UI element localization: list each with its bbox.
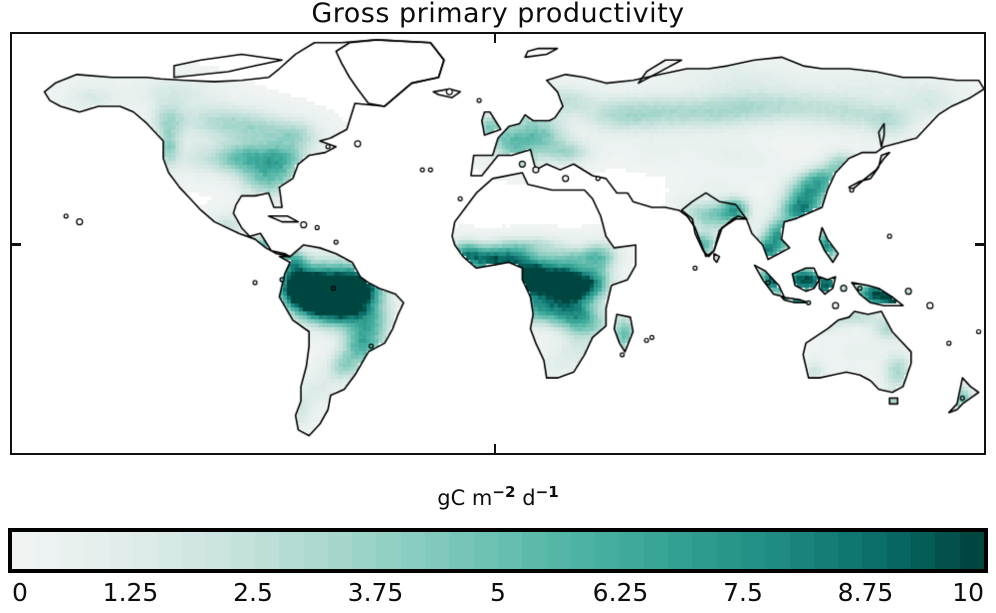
colorbar-swatch-1 [36,532,60,569]
colorbar-tick-2-5: 2.5 [233,578,273,607]
colorbar-swatch-0 [12,532,36,569]
colorbar-swatch-22 [547,532,571,569]
colorbar-swatch-31 [765,532,789,569]
colorbar-swatch-3 [85,532,109,569]
colorbar-swatch-6 [158,532,182,569]
colorbar-swatch-2 [61,532,85,569]
colorbar-tick-6-25: 6.25 [593,578,649,607]
colorbar-swatch-33 [814,532,838,569]
colorbar-swatch-34 [838,532,862,569]
colorbar-tick-labels: 01.252.53.7556.257.58.7510 [0,578,996,613]
colorbar-swatch-15 [376,532,400,569]
colorbar-swatch-20 [498,532,522,569]
colorbar-tick-5: 5 [490,578,506,607]
colorbar [8,528,988,573]
page-title: Gross primary productivity [0,0,996,29]
colorbar-tick-1-25: 1.25 [103,578,159,607]
axis-tick-right-equator [975,243,986,246]
colorbar-swatch-39 [960,532,984,569]
colorbar-swatch-29 [717,532,741,569]
colorbar-swatch-35 [862,532,886,569]
colorbar-tick-3-75: 3.75 [348,578,404,607]
colorbar-swatch-16 [401,532,425,569]
gpp-heatmap-canvas [12,34,984,453]
units-mid: d [516,486,536,510]
colorbar-swatch-10 [255,532,279,569]
colorbar-swatch-17 [425,532,449,569]
colorbar-swatch-26 [644,532,668,569]
colorbar-tick-7-5: 7.5 [723,578,763,607]
units-exponent-day: −1 [536,483,559,501]
colorbar-tick-0: 0 [12,578,28,607]
colorbar-swatch-18 [449,532,473,569]
axis-tick-left-equator [10,243,21,246]
colorbar-swatch-30 [741,532,765,569]
colorbar-swatch-19 [474,532,498,569]
colorbar-swatch-8 [206,532,230,569]
colorbar-swatch-28 [692,532,716,569]
world-map-panel [10,32,986,455]
colorbar-swatch-14 [352,532,376,569]
colorbar-swatch-38 [935,532,959,569]
colorbar-swatch-36 [887,532,911,569]
colorbar-swatch-21 [522,532,546,569]
colorbar-swatch-9 [231,532,255,569]
colorbar-tick-8-75: 8.75 [838,578,894,607]
colorbar-swatch-25 [619,532,643,569]
colorbar-swatch-11 [279,532,303,569]
colorbar-swatch-37 [911,532,935,569]
colorbar-swatch-13 [328,532,352,569]
units-exponent-area: −2 [492,483,515,501]
colorbar-swatch-5 [133,532,157,569]
colorbar-swatch-12 [304,532,328,569]
colorbar-swatch-4 [109,532,133,569]
colorbar-swatch-27 [668,532,692,569]
colorbar-gradient [12,532,984,569]
axis-tick-top-meridian [494,32,496,43]
colorbar-tick-10: 10 [952,578,984,607]
colorbar-swatch-32 [790,532,814,569]
colorbar-swatch-23 [571,532,595,569]
axis-tick-bottom-meridian [494,444,496,455]
colorbar-swatch-7 [182,532,206,569]
colorbar-units-label: gC m−2 d−1 [0,483,996,510]
units-prefix: gC m [437,486,492,510]
colorbar-swatch-24 [595,532,619,569]
